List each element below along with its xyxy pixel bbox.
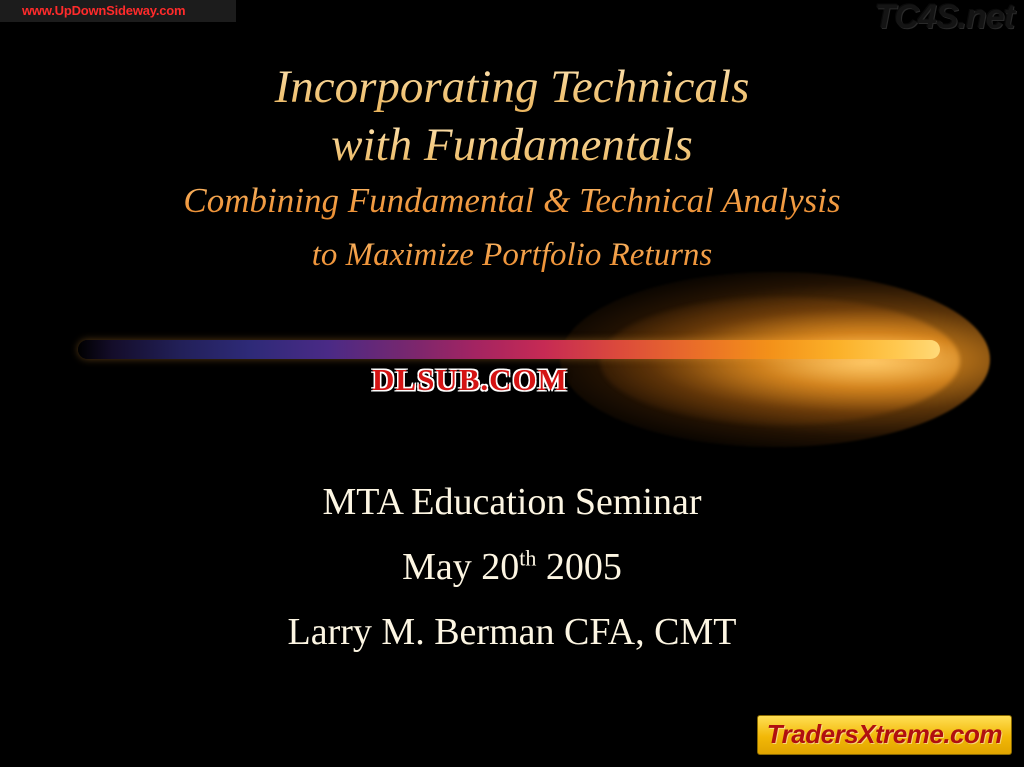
- comet-glow-outer: [560, 272, 990, 447]
- title-line-1: Incorporating Technicals: [0, 58, 1024, 116]
- comet-head-icon: [898, 336, 942, 363]
- slide-title: Incorporating Technicals with Fundamenta…: [0, 58, 1024, 282]
- watermark-dlsub: DLSUB.COM: [372, 362, 568, 398]
- watermark-tradersxtreme: TradersXtreme.com: [757, 715, 1012, 755]
- slide-body: MTA Education Seminar May 20th 2005 Larr…: [0, 470, 1024, 665]
- title-line-2: with Fundamentals: [0, 116, 1024, 174]
- date-prefix: May 20: [402, 546, 519, 588]
- subtitle-line-2: to Maximize Portfolio Returns: [0, 228, 1024, 282]
- body-line-presenter: Larry M. Berman CFA, CMT: [0, 600, 1024, 665]
- presentation-slide: www.UpDownSideway.com TC4S.net Incorpora…: [0, 0, 1024, 767]
- comet-glow-inner: [600, 297, 960, 425]
- watermark-tc4s: TC4S.net: [875, 0, 1014, 37]
- date-ordinal-suffix: th: [519, 545, 536, 570]
- comet-gradient-bar: [78, 340, 940, 359]
- subtitle-line-1: Combining Fundamental & Technical Analys…: [0, 174, 1024, 228]
- date-year: 2005: [536, 546, 622, 588]
- body-line-date: May 20th 2005: [0, 535, 1024, 600]
- watermark-updownsideway: www.UpDownSideway.com: [0, 0, 236, 22]
- body-line-seminar: MTA Education Seminar: [0, 470, 1024, 535]
